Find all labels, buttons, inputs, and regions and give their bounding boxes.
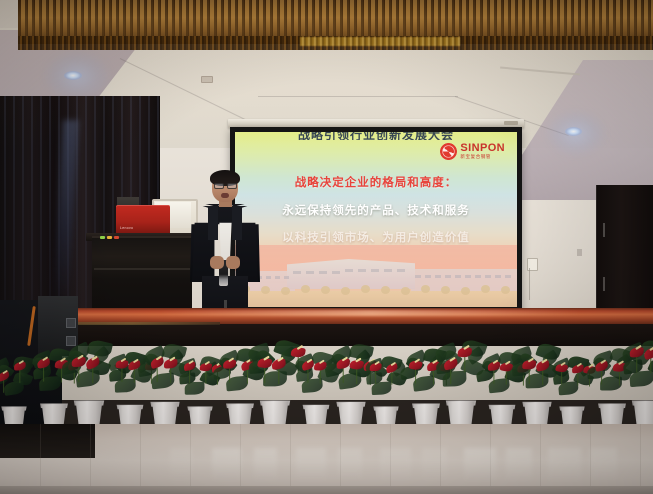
floor-reflection <box>296 448 326 482</box>
flower-stem <box>342 366 343 383</box>
illustration-tree <box>441 286 450 294</box>
factory-window <box>319 271 327 274</box>
illustration-tree <box>361 285 370 293</box>
plant-leaf <box>264 371 288 386</box>
sinpon-swirl-logo-icon <box>440 143 457 160</box>
flower-stem <box>356 367 357 384</box>
stage-edge-sheen <box>160 310 580 316</box>
ceiling-downlight-left <box>64 71 82 80</box>
plant-leaf <box>76 370 101 388</box>
factory-window <box>358 269 366 272</box>
projected-slide: 战略引领行业创新发展大会 SINPON 新宝复合钢管 战略决定企业的格局和高度：… <box>235 132 517 307</box>
flower-stem <box>493 369 494 384</box>
potted-anthurium <box>254 328 297 436</box>
factory-window <box>266 276 271 279</box>
slide-factory-illustration <box>235 245 517 307</box>
factory-window <box>275 276 280 279</box>
floor-reflection <box>422 448 447 482</box>
factory-window <box>475 275 481 278</box>
factory-window <box>465 275 471 278</box>
illustration-tree <box>501 286 510 294</box>
slide-line-2: 永远保持领先的产品、技术和服务 <box>235 202 517 218</box>
potted-anthurium <box>440 328 483 436</box>
presenter-hand-right <box>226 256 240 269</box>
presentation-hall-photo: 战略引领行业创新发展大会 SINPON 新宝复合钢管 战略决定企业的格局和高度：… <box>0 0 653 494</box>
presenter-mouth <box>221 193 229 198</box>
floor-reflection <box>254 448 277 482</box>
flower-stem <box>205 369 206 383</box>
factory-window <box>485 275 491 278</box>
illustration-tree <box>421 285 430 293</box>
plant-leaf <box>185 382 205 395</box>
floor-reflection <box>464 448 496 482</box>
factory-window <box>384 269 392 272</box>
floor-reflection <box>590 448 617 482</box>
logo-brand-subtitle: 新宝复合钢管 <box>460 155 505 160</box>
floor-far-edge <box>0 486 653 494</box>
ceiling-vent-icon <box>201 76 213 83</box>
wall-switch-plate[interactable] <box>577 249 582 256</box>
glasses-icon-right <box>227 183 237 189</box>
flower-stem <box>189 369 190 383</box>
plant-leaf <box>3 381 24 396</box>
floor-reflection <box>212 448 241 482</box>
logo-brand-name: SINPON <box>460 143 505 154</box>
plant-foliage <box>364 355 407 411</box>
potted-anthurium <box>626 328 653 436</box>
slide-title-cutoff: 战略引领行业创新发展大会 <box>235 132 517 140</box>
anthurium-plant-row <box>0 326 653 436</box>
flower-stem <box>133 368 134 383</box>
factory-window <box>397 269 405 272</box>
slide-line-1: 战略决定企业的格局和高度： <box>235 174 517 190</box>
plant-leaf <box>337 372 362 390</box>
flower-stem <box>121 367 122 382</box>
wall-cord <box>529 268 530 300</box>
illustration-tree <box>341 287 350 295</box>
ceiling-downlight-right <box>565 127 582 136</box>
factory-window <box>425 275 431 278</box>
flower-stem <box>319 369 320 384</box>
floor-shadow-left <box>0 424 95 458</box>
illustration-tree <box>301 285 310 293</box>
flower-stem <box>170 366 171 383</box>
lectern-indicator-amber[interactable] <box>107 236 112 239</box>
plant-leaf <box>114 379 135 393</box>
flower-stem <box>19 369 20 383</box>
presenter-hand-left <box>210 256 224 269</box>
door-seam-mid <box>603 277 605 291</box>
plant-foliage <box>550 355 593 411</box>
illustration-tree <box>401 287 410 295</box>
factory-window <box>345 269 353 272</box>
factory-window <box>332 271 340 274</box>
laptop-brand-label: Lenovo <box>120 226 133 230</box>
flower-stem <box>542 368 543 385</box>
flower-stem <box>577 371 578 385</box>
screen-housing-cap <box>504 121 518 125</box>
presenter-lapel-left <box>208 206 218 240</box>
lectern-indicator-green[interactable] <box>100 236 105 239</box>
factory-window <box>455 275 461 278</box>
illustration-tree <box>281 287 290 295</box>
ceiling-crease-center <box>258 96 458 97</box>
floor-reflection <box>338 448 362 482</box>
floor-tile-seam <box>640 424 641 494</box>
floor-tile-seam <box>40 424 41 494</box>
floor-tile-seam <box>290 424 291 494</box>
illustration-tree <box>321 286 330 294</box>
factory-window <box>435 275 441 278</box>
floor-reflection <box>506 448 532 482</box>
factory-window <box>293 271 301 274</box>
illustration-tree <box>461 287 470 295</box>
presenter-lapel-right <box>232 206 242 240</box>
factory-window <box>495 275 501 278</box>
flower-stem <box>505 370 506 385</box>
flower-stem <box>528 367 529 384</box>
factory-window <box>371 269 379 272</box>
floor-reflection <box>170 448 192 482</box>
illustration-tree <box>381 286 390 294</box>
floor-reflection <box>380 448 411 482</box>
factory-window <box>445 275 451 278</box>
door-handle-icon <box>603 223 605 237</box>
illustration-tree <box>481 285 490 293</box>
plant-leaf <box>443 371 467 387</box>
illustration-ground <box>235 291 517 307</box>
lectern-indicator-red[interactable] <box>114 236 119 239</box>
flower-stem <box>561 370 562 384</box>
factory-window <box>505 275 511 278</box>
floor-tile-seam <box>540 424 541 494</box>
valance-fringe-gold-highlight <box>300 37 460 46</box>
slide-line-3: 以科技引领市场、为用户创造价值 <box>235 229 517 245</box>
glasses-icon-left <box>214 183 224 189</box>
factory-window <box>284 276 289 279</box>
potted-anthurium <box>68 328 111 436</box>
sinpon-logo: SINPON 新宝复合钢管 <box>440 143 505 160</box>
floor-tile-seam <box>90 424 91 494</box>
flower-stem <box>375 369 376 383</box>
lectern-panel-seam <box>94 268 190 270</box>
floor-tile-seam <box>140 424 141 494</box>
factory-window <box>415 275 421 278</box>
factory-window <box>306 271 314 274</box>
floor-reflection <box>548 448 581 482</box>
flower-stem <box>391 370 392 384</box>
